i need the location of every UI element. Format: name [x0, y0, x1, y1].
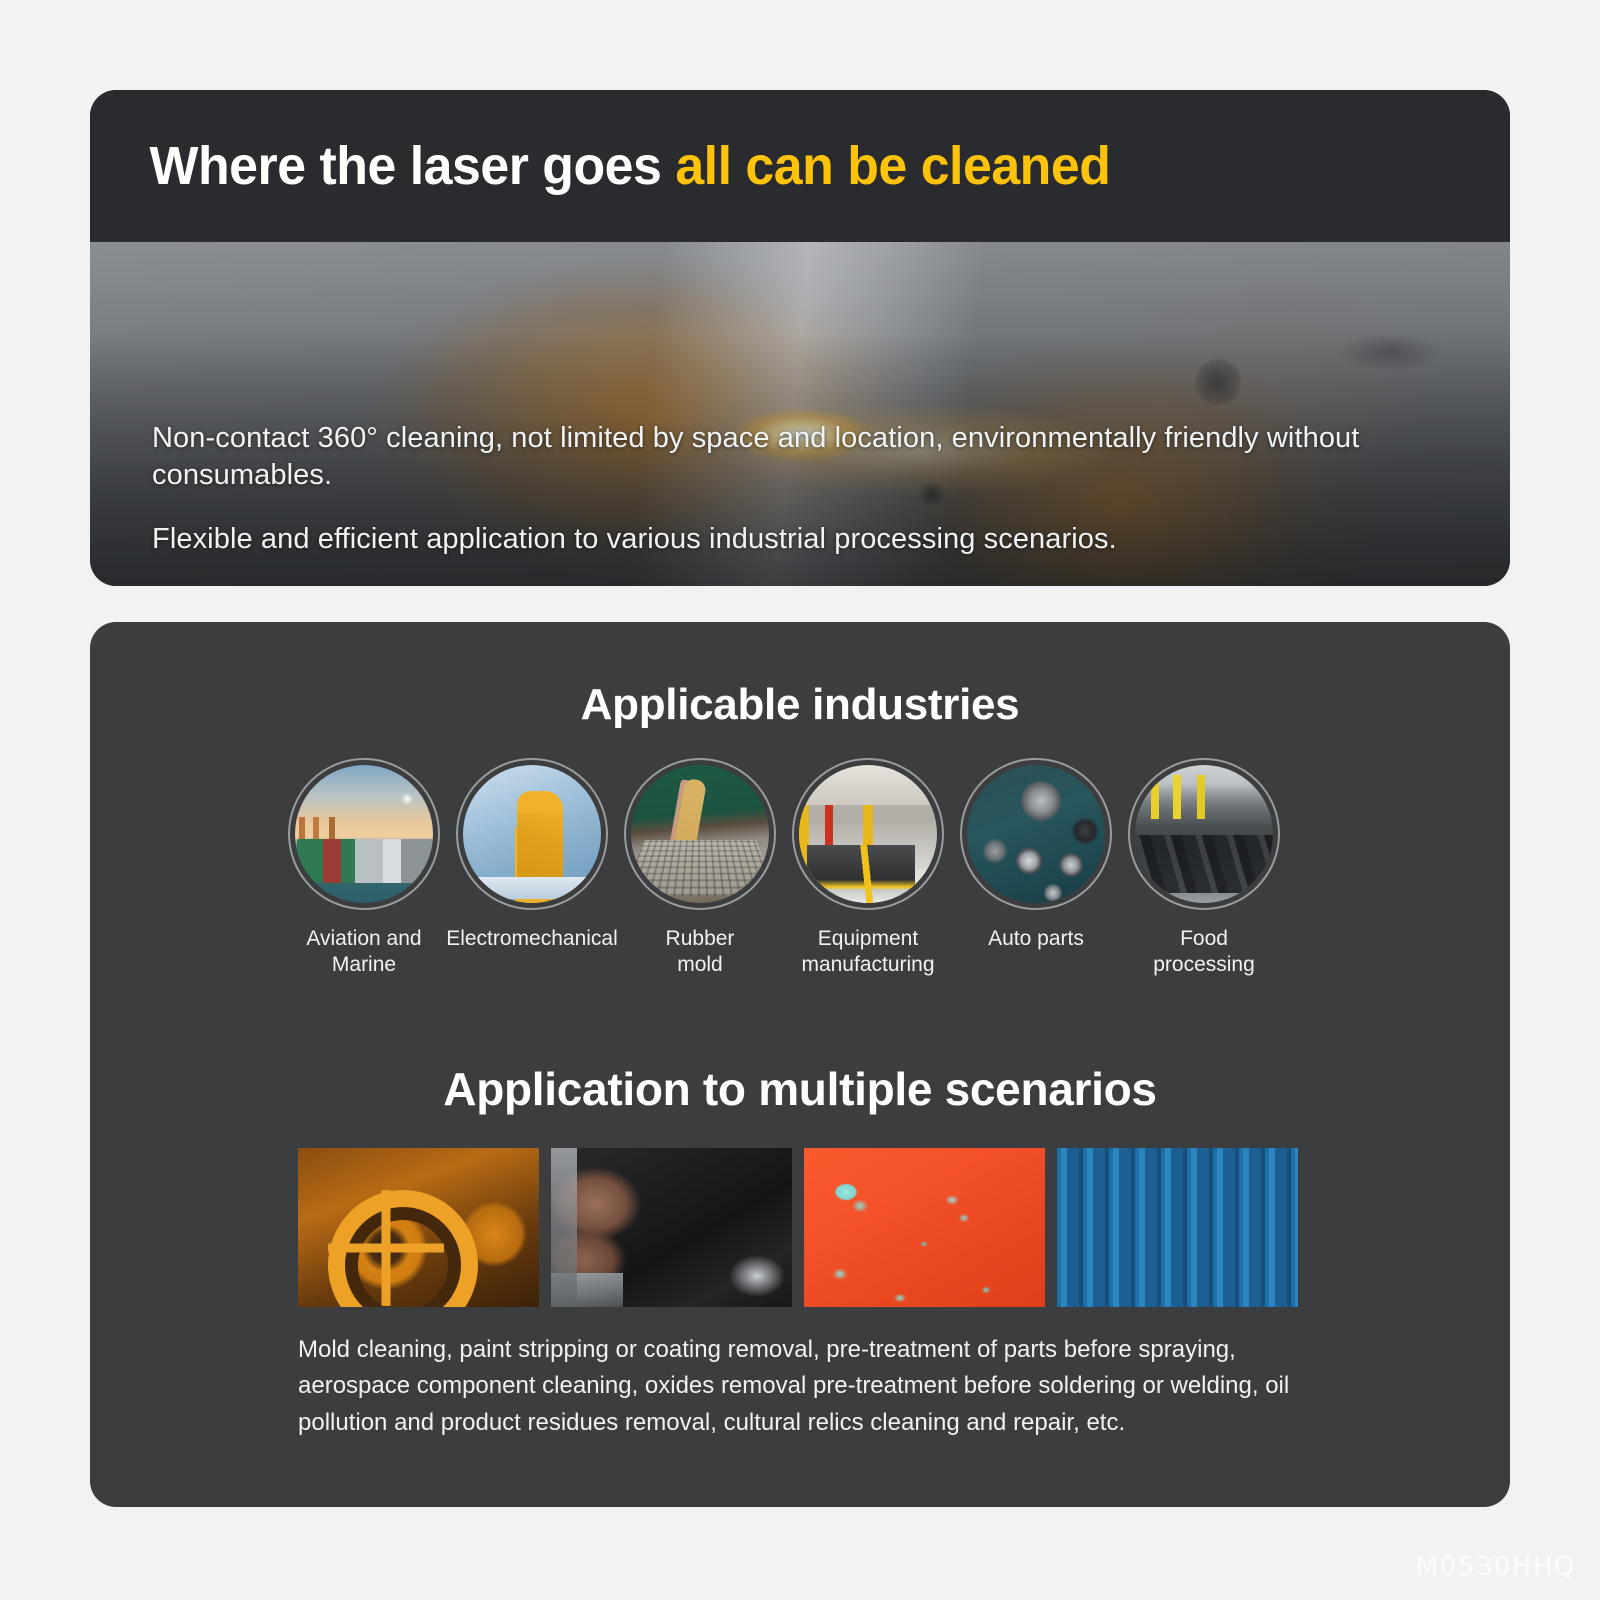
page-title-white-part: Where the laser goes [150, 136, 676, 196]
industry-item-aviation-marine[interactable]: Aviation and Marine [288, 758, 440, 977]
watermark: M0530HHQ [1416, 1552, 1576, 1582]
port-containers-airplane-icon [295, 765, 433, 903]
scenario-image-row [298, 1148, 1298, 1307]
industry-label: Electromechanical [446, 926, 618, 952]
hero-paragraph-1: Non-contact 360° cleaning, not limited b… [152, 420, 1452, 493]
industry-circle-frame [624, 758, 776, 910]
industry-label: Equipment manufacturing [801, 926, 934, 977]
scenario-image-rusty-flywheel[interactable] [298, 1148, 539, 1307]
hero-paragraph-2: Flexible and efficient application to va… [152, 521, 1452, 558]
rubber-mold-worker-icon [631, 765, 769, 903]
industry-circle-frame [456, 758, 608, 910]
food-processing-line-icon [1135, 765, 1273, 903]
industry-label: Food processing [1153, 926, 1255, 977]
industry-item-electromechanical[interactable]: Electromechanical [456, 758, 608, 952]
industry-item-food-processing[interactable]: Food processing [1128, 758, 1280, 977]
robot-arm-factory-icon [463, 765, 601, 903]
industries-heading: Applicable industries [90, 680, 1510, 730]
industry-circle-frame [960, 758, 1112, 910]
industry-circle-frame [1128, 758, 1280, 910]
scenarios-heading: Application to multiple scenarios [90, 1062, 1510, 1116]
industry-item-auto-parts[interactable]: Auto parts [960, 758, 1112, 952]
industries-card: Applicable industries Aviation and Marin… [90, 622, 1510, 1507]
page-title: Where the laser goes all can be cleaned [90, 135, 1110, 197]
industry-label: Rubber mold [666, 926, 735, 977]
industry-label: Aviation and Marine [306, 926, 421, 977]
hero-card: Where the laser goes all can be cleaned … [90, 90, 1510, 586]
industry-circle-frame [288, 758, 440, 910]
industry-item-rubber-mold[interactable]: Rubber mold [624, 758, 776, 977]
scenario-image-engine-repair[interactable] [551, 1148, 792, 1307]
page-title-accent-part: all can be cleaned [675, 136, 1110, 196]
assembly-line-icon [799, 765, 937, 903]
hero-body-text: Non-contact 360° cleaning, not limited b… [152, 420, 1452, 558]
hero-title-bar: Where the laser goes all can be cleaned [90, 90, 1510, 242]
poster-page: Where the laser goes all can be cleaned … [0, 0, 1600, 1600]
industry-circle-frame [792, 758, 944, 910]
bearings-auto-parts-icon [967, 765, 1105, 903]
scenarios-description: Mold cleaning, paint stripping or coatin… [298, 1332, 1318, 1441]
industry-label: Auto parts [988, 926, 1084, 952]
industries-circle-row: Aviation and Marine Electromechanical Ru… [288, 758, 1280, 977]
scenario-image-blue-panels[interactable] [1057, 1148, 1298, 1307]
industry-item-equipment-manufacturing[interactable]: Equipment manufacturing [792, 758, 944, 977]
scenario-image-peeling-paint[interactable] [804, 1148, 1045, 1307]
